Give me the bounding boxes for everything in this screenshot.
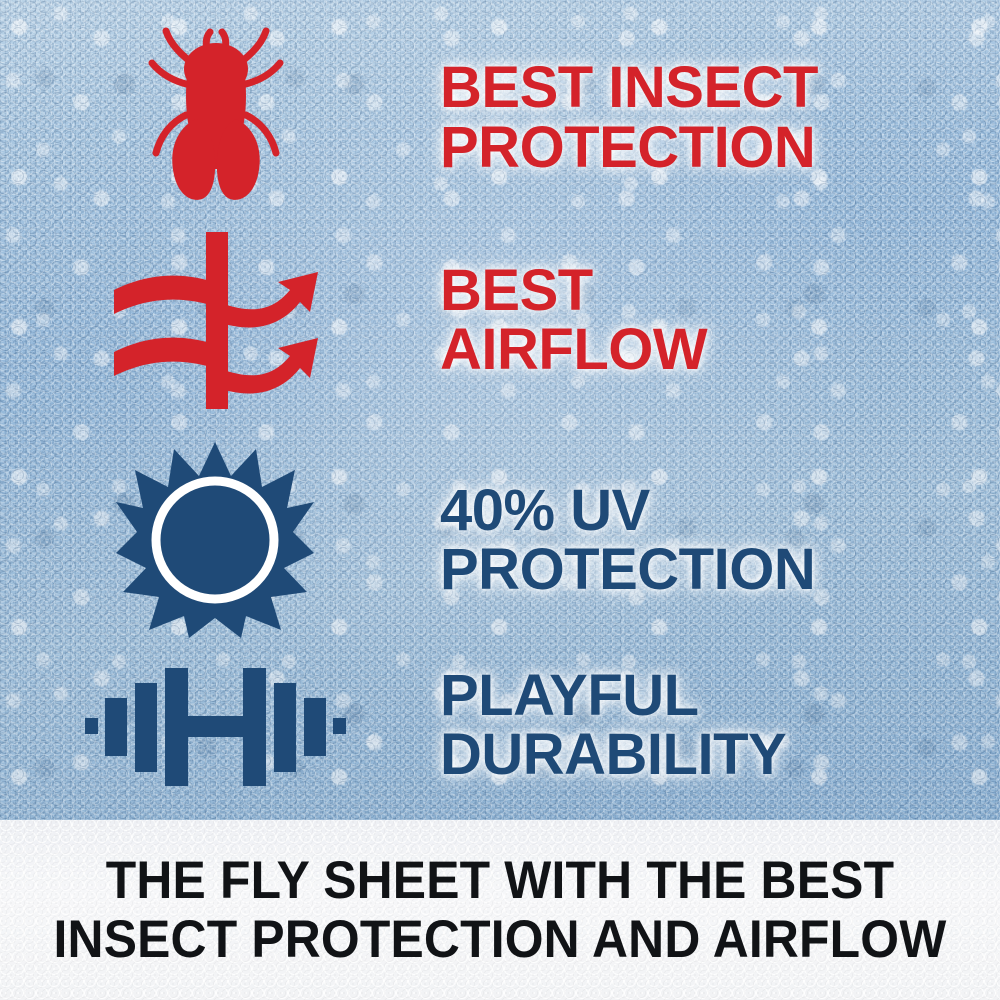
fly-icon [140,23,290,213]
text-cell-airflow: BEST AIRFLOW [430,261,1000,379]
sun-icon [115,440,315,640]
feature-label-airflow: BEST AIRFLOW [440,261,1000,379]
text-cell-uv-protection: 40% UV PROTECTION [430,481,1000,599]
caption-text: THE FLY SHEET WITH THE BEST INSECT PROTE… [37,851,964,970]
feature-row-durability: PLAYFUL DURABILITY [0,650,1000,800]
feature-row-uv-protection: 40% UV PROTECTION [0,440,1000,640]
feature-label-insect-protection: BEST INSECT PROTECTION [440,58,1000,176]
caption-band: THE FLY SHEET WITH THE BEST INSECT PROTE… [0,820,1000,1000]
feature-label-durability: PLAYFUL DURABILITY [440,666,1000,784]
icon-cell-uv-protection [0,440,430,640]
feature-label-uv-protection: 40% UV PROTECTION [440,481,1000,599]
icon-cell-insect-protection [0,23,430,213]
product-feature-infographic: BEST INSECT PROTECTION [0,0,1000,1000]
icon-cell-airflow [0,228,430,413]
feature-row-airflow: BEST AIRFLOW [0,225,1000,415]
icon-cell-durability [0,660,430,790]
text-cell-durability: PLAYFUL DURABILITY [430,666,1000,784]
airflow-icon [100,228,330,413]
dumbbell-icon [83,660,348,790]
text-cell-insect-protection: BEST INSECT PROTECTION [430,58,1000,176]
feature-list: BEST INSECT PROTECTION [0,0,1000,820]
feature-row-insect-protection: BEST INSECT PROTECTION [0,20,1000,215]
